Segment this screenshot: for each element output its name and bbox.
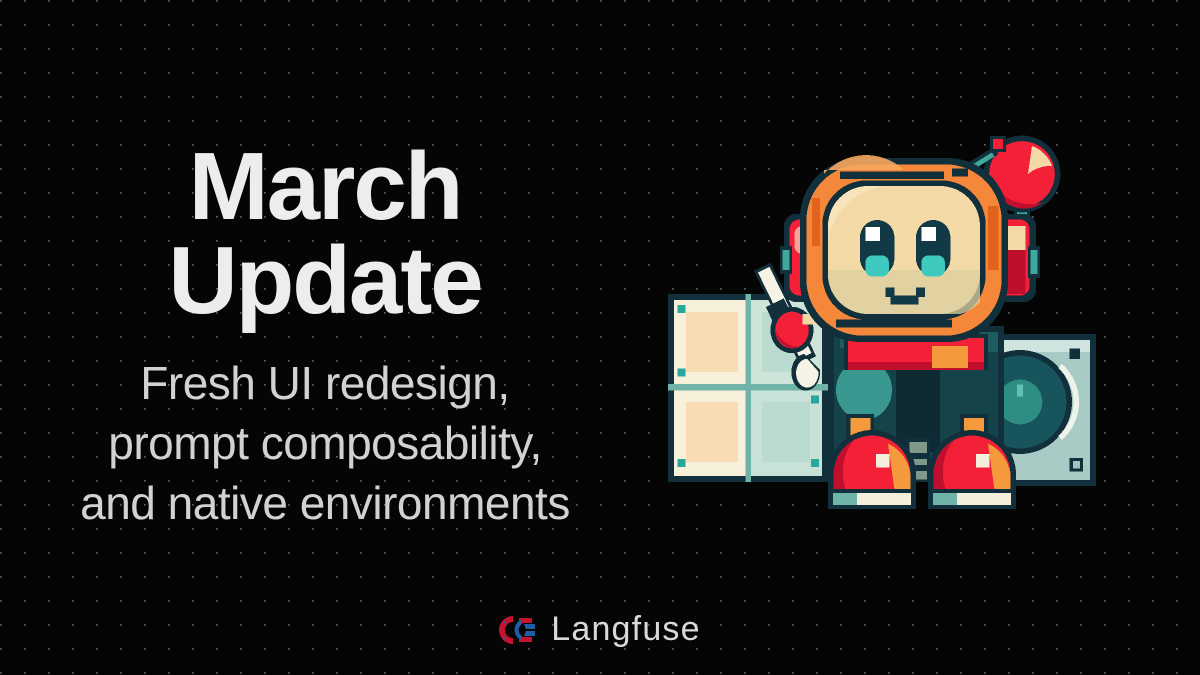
brand-lockup: Langfuse: [0, 610, 1200, 649]
langfuse-logo-icon: [499, 613, 537, 647]
banner-canvas: March Update Fresh UI redesign, prompt c…: [0, 0, 1200, 675]
headline-block: March Update Fresh UI redesign, prompt c…: [0, 140, 650, 534]
robot-head: [800, 155, 1008, 342]
robot-mascot-illustration: [648, 118, 1100, 518]
page-title: March Update: [0, 140, 650, 328]
page-subtitle: Fresh UI redesign, prompt composability,…: [0, 354, 650, 533]
brand-name: Langfuse: [551, 610, 701, 649]
robot-mascot-svg: [648, 118, 1100, 518]
